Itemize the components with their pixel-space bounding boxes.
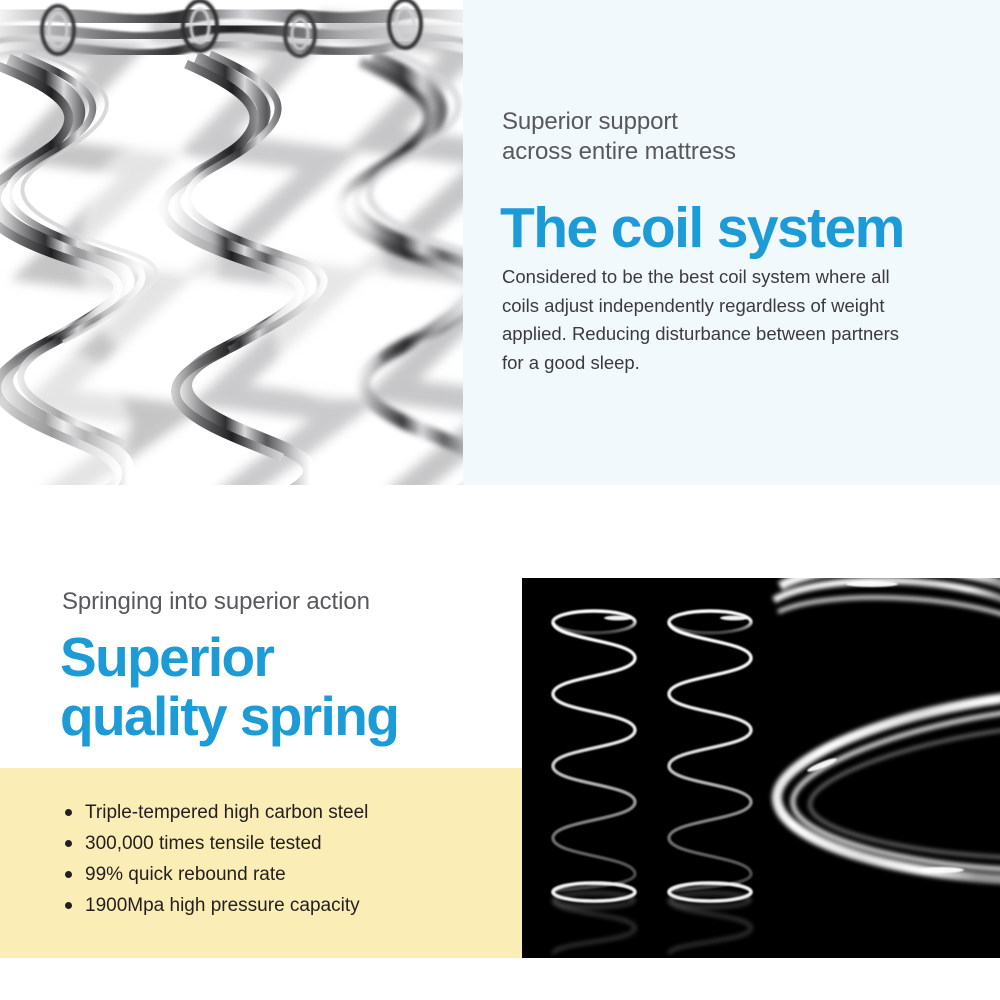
spring-feature-list: Triple-tempered high carbon steel 300,00… (0, 800, 500, 924)
bullet-dot-icon (65, 902, 72, 909)
spring-quality-title: Superior quality spring (60, 628, 398, 746)
spring-eyebrow: Springing into superior action (62, 587, 370, 617)
list-item-label: Triple-tempered high carbon steel (85, 802, 368, 823)
coil-text-panel: Superior support across entire mattress … (463, 0, 1000, 485)
bullet-dot-icon (65, 840, 72, 847)
bullet-dot-icon (65, 871, 72, 878)
coil-photo (0, 0, 463, 485)
list-item: Triple-tempered high carbon steel (0, 800, 500, 825)
list-item-label: 1900Mpa high pressure capacity (85, 895, 360, 916)
coil-system-title: The coil system (500, 200, 904, 257)
bullet-dot-icon (65, 809, 72, 816)
list-item: 99% quick rebound rate (0, 862, 500, 887)
spring-photo (522, 578, 1000, 958)
list-item-label: 99% quick rebound rate (85, 864, 286, 885)
coil-system-body: Considered to be the best coil system wh… (502, 263, 922, 378)
coil-eyebrow: Superior support across entire mattress (502, 107, 736, 168)
list-item: 300,000 times tensile tested (0, 831, 500, 856)
list-item: 1900Mpa high pressure capacity (0, 893, 500, 918)
coil-system-section: Superior support across entire mattress … (0, 0, 1000, 485)
list-item-label: 300,000 times tensile tested (85, 833, 322, 854)
